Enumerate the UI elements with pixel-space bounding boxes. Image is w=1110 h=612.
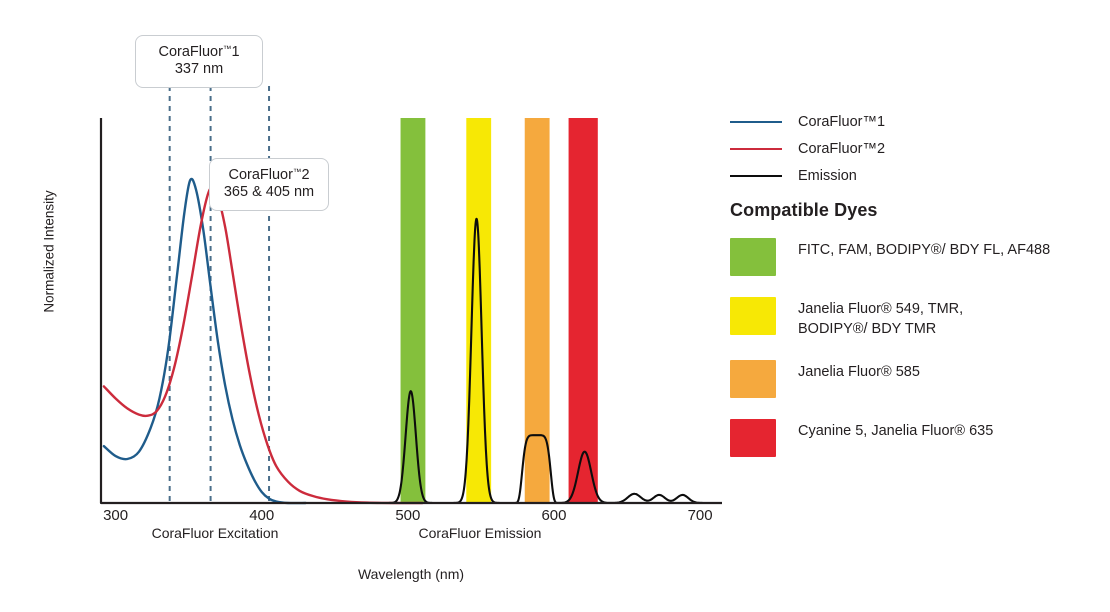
callout-corafluor1: CoraFluor™1 337 nm (135, 35, 263, 88)
excitation-range-label: CoraFluor Excitation (110, 525, 320, 541)
dye-label: Cyanine 5, Janelia Fluor® 635 (798, 419, 993, 441)
legend-line-swatch (730, 148, 782, 150)
compatible-dyes-list: FITC, FAM, BODIPY®/ BDY FL, AF488Janelia… (730, 238, 1110, 478)
dye-label: Janelia Fluor® 585 (798, 360, 920, 382)
spectrum-curve (104, 188, 423, 503)
dye-band (525, 118, 550, 503)
callout1-line1: CoraFluor™1 (158, 44, 239, 60)
dye-label: FITC, FAM, BODIPY®/ BDY FL, AF488 (798, 238, 1050, 260)
x-tick-label: 400 (232, 507, 292, 524)
legend-item-label: CoraFluor™2 (798, 141, 885, 157)
x-tick-label: 700 (670, 507, 730, 524)
dye-label-line1: FITC, FAM, BODIPY®/ BDY FL, AF488 (798, 240, 1050, 260)
callout2-line2: 365 & 405 nm (220, 184, 318, 202)
x-tick-label: 500 (378, 507, 438, 524)
dye-color-swatch (730, 297, 776, 335)
callout-corafluor2: CoraFluor™2 365 & 405 nm (209, 158, 329, 211)
excitation-marker-group (170, 86, 269, 503)
dye-label-line1: Janelia Fluor® 585 (798, 362, 920, 382)
dye-list-item: Janelia Fluor® 549, TMR,BODIPY®/ BDY TMR (730, 297, 1110, 339)
callout1-line2: 337 nm (146, 61, 252, 79)
legend-item-label: CoraFluor™1 (798, 114, 885, 130)
callout2-line1: CoraFluor™2 (228, 167, 309, 183)
dye-label-line1: Cyanine 5, Janelia Fluor® 635 (798, 421, 993, 441)
compatible-dyes-title: Compatible Dyes (730, 200, 878, 221)
dye-band (466, 118, 491, 503)
y-axis-label: Normalized Intensity (42, 167, 57, 337)
dye-color-swatch (730, 419, 776, 457)
dye-color-swatch (730, 360, 776, 398)
legend-line-swatch (730, 175, 782, 177)
dye-label-line2: BODIPY®/ BDY TMR (798, 319, 963, 339)
dye-color-swatch (730, 238, 776, 276)
dye-label: Janelia Fluor® 549, TMR,BODIPY®/ BDY TMR (798, 297, 963, 339)
dye-list-item: FITC, FAM, BODIPY®/ BDY FL, AF488 (730, 238, 1110, 276)
dye-label-line1: Janelia Fluor® 549, TMR, (798, 299, 963, 319)
legend-item: Emission (730, 162, 1100, 189)
dye-band-group (401, 118, 598, 503)
series-legend: CoraFluor™1CoraFluor™2Emission (730, 108, 1100, 189)
dye-list-item: Cyanine 5, Janelia Fluor® 635 (730, 419, 1110, 457)
legend-item: CoraFluor™2 (730, 135, 1100, 162)
emission-range-label: CoraFluor Emission (375, 525, 585, 541)
dye-list-item: Janelia Fluor® 585 (730, 360, 1110, 398)
legend-item-label: Emission (798, 168, 857, 184)
dye-band (569, 118, 598, 503)
x-axis-label: Wavelength (nm) (281, 566, 541, 582)
legend-line-swatch (730, 121, 782, 123)
x-tick-label: 300 (86, 507, 146, 524)
x-tick-label: 600 (524, 507, 584, 524)
spectrum-curve (104, 179, 306, 503)
legend-item: CoraFluor™1 (730, 108, 1100, 135)
